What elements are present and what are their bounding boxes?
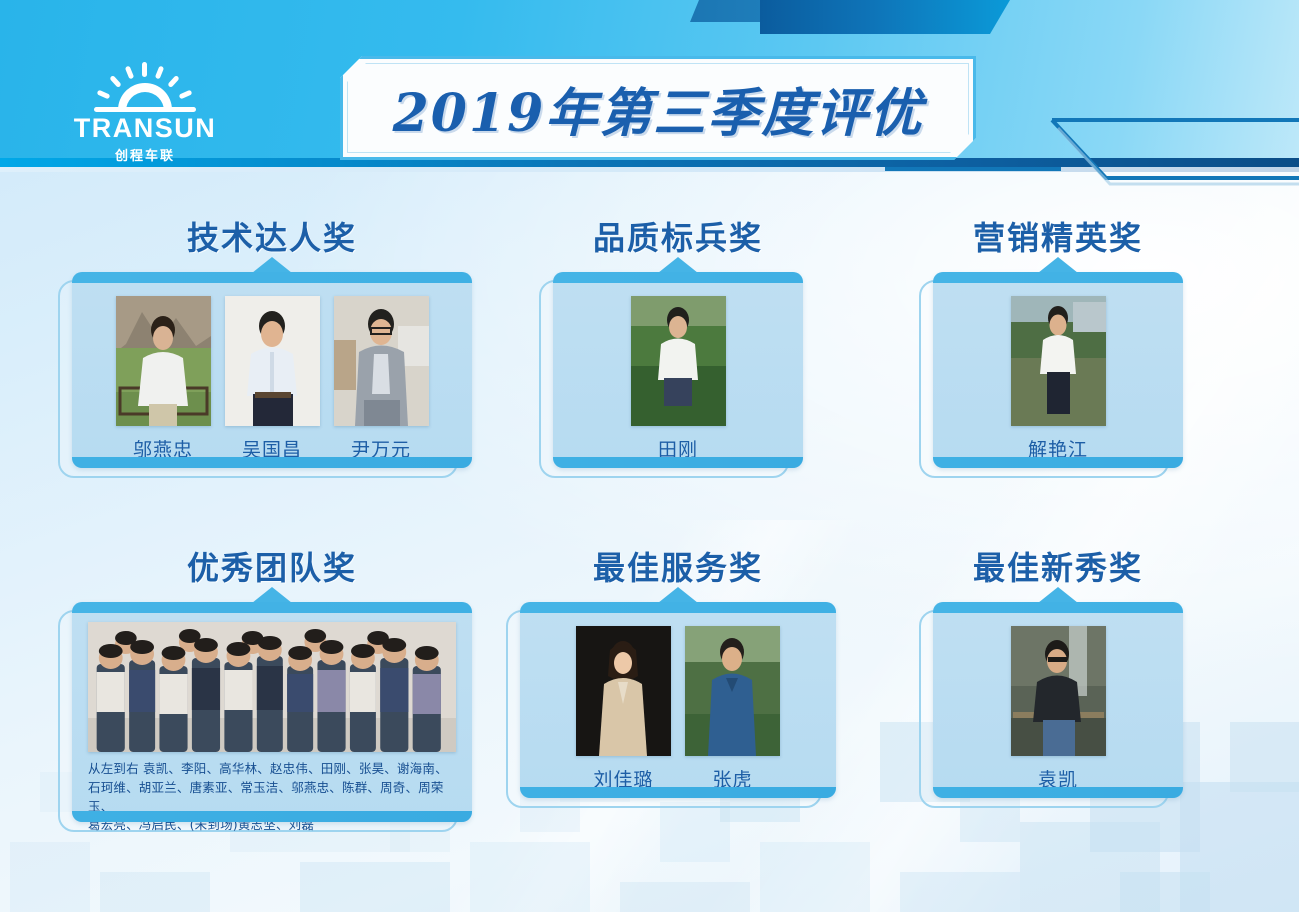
person-0-0[interactable]: 邬燕忠	[116, 296, 211, 462]
poster-root: TRANSUN 创程车联 2019年第三季度评优 技术达人奖	[0, 0, 1299, 912]
person-5-0[interactable]: 袁凯	[1011, 626, 1106, 792]
person-2-0[interactable]: 解艳江	[1011, 296, 1106, 462]
header-accent-shape	[760, 0, 1010, 34]
award-card-0[interactable]: 邬燕忠	[72, 272, 472, 468]
award-title-5: 最佳新秀奖	[933, 552, 1183, 584]
person-4-0[interactable]: 刘佳璐	[576, 626, 671, 792]
people-list-1: 田刚	[571, 296, 785, 462]
award-cell-3: 优秀团队奖	[72, 552, 472, 822]
award-cell-4: 最佳服务奖	[520, 552, 836, 798]
award-title-1: 品质标兵奖	[553, 222, 803, 254]
award-card-5[interactable]: 袁凯	[933, 602, 1183, 798]
group-photo-team	[88, 622, 456, 752]
award-title-0: 技术达人奖	[72, 222, 472, 254]
brand-logo: TRANSUN 创程车联	[70, 62, 220, 158]
portrait-indoor-glasses	[334, 296, 429, 426]
card-bottom-bar-5	[933, 787, 1183, 798]
team-caption: 从左到右 袁凯、李阳、高华林、赵忠伟、田刚、张昊、谢海南、 石珂维、胡亚兰、唐素…	[88, 760, 456, 835]
portrait-outdoor-green	[631, 296, 726, 426]
person-4-1[interactable]: 张虎	[685, 626, 780, 792]
award-cell-0: 技术达人奖	[72, 222, 472, 468]
award-title-4: 最佳服务奖	[520, 552, 836, 584]
brand-name-cn: 创程车联	[70, 145, 220, 164]
award-card-2[interactable]: 解艳江	[933, 272, 1183, 468]
poster-title-plaque: 2019年第三季度评优	[340, 56, 976, 160]
award-cell-5: 最佳新秀奖	[933, 552, 1183, 798]
award-cell-1: 品质标兵奖	[553, 222, 803, 468]
card-bottom-bar-4	[520, 787, 836, 798]
person-0-2[interactable]: 尹万元	[334, 296, 429, 462]
portrait-outdoor-street	[1011, 296, 1106, 426]
person-0-1[interactable]: 吴国昌	[225, 296, 320, 462]
portrait-dark-background	[576, 626, 671, 756]
people-list-2: 解艳江	[951, 296, 1165, 462]
sunrise-icon	[70, 62, 220, 114]
card-bottom-bar-1	[553, 457, 803, 468]
card-bottom-bar-3	[72, 811, 472, 822]
award-title-3: 优秀团队奖	[72, 552, 472, 584]
card-bottom-bar-0	[72, 457, 472, 468]
award-cell-2: 营销精英奖	[933, 222, 1183, 468]
card-pointer-4	[658, 587, 698, 603]
people-list-0: 邬燕忠	[90, 296, 454, 462]
card-pointer-0	[252, 257, 292, 273]
award-title-2: 营销精英奖	[933, 222, 1183, 254]
portrait-outdoor-rock	[116, 296, 211, 426]
portrait-studio-white	[225, 296, 320, 426]
person-1-0[interactable]: 田刚	[631, 296, 726, 462]
award-grid: 技术达人奖	[0, 172, 1299, 912]
card-pointer-3	[252, 587, 292, 603]
card-pointer-2	[1038, 257, 1078, 273]
brand-name-en: TRANSUN	[70, 115, 220, 142]
page-title: 2019年第三季度评优	[393, 71, 924, 146]
people-list-4: 刘佳璐	[538, 626, 818, 792]
card-bottom-bar-2	[933, 457, 1183, 468]
portrait-outdoor-polo	[685, 626, 780, 756]
award-card-3[interactable]: 从左到右 袁凯、李阳、高华林、赵忠伟、田刚、张昊、谢海南、 石珂维、胡亚兰、唐素…	[72, 602, 472, 822]
people-list-5: 袁凯	[951, 626, 1165, 792]
team-caption-line-0: 从左到右 袁凯、李阳、高华林、赵忠伟、田刚、张昊、谢海南、	[88, 760, 456, 779]
portrait-outdoor-waterfall	[1011, 626, 1106, 756]
award-card-1[interactable]: 田刚	[553, 272, 803, 468]
award-card-4[interactable]: 刘佳璐	[520, 602, 836, 798]
card-pointer-1	[658, 257, 698, 273]
card-pointer-5	[1038, 587, 1078, 603]
